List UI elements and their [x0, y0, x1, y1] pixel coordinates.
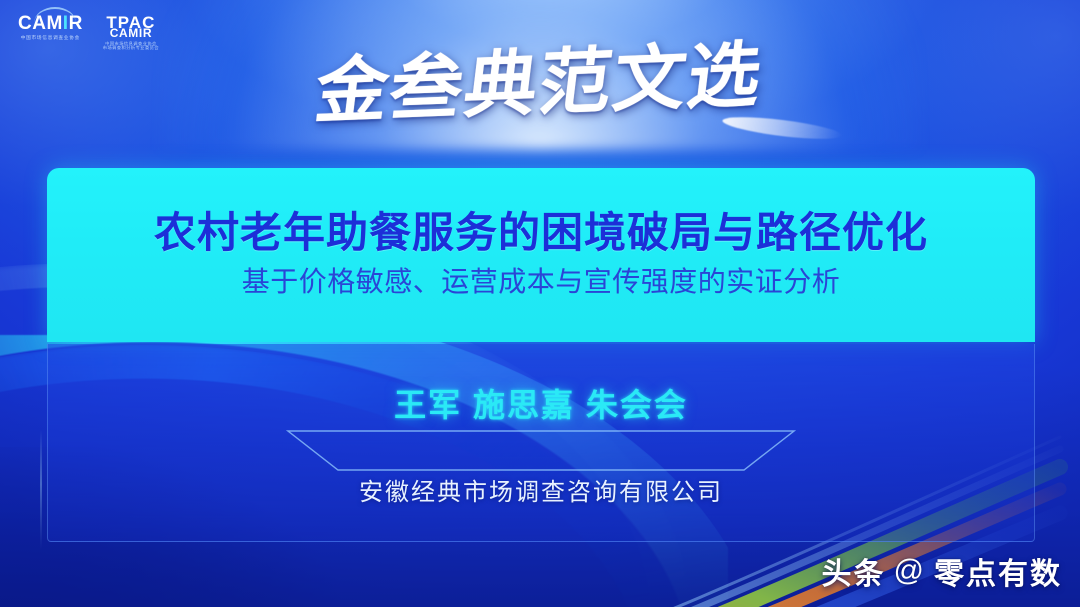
camir-logo: CAMIR 中国市场信息调查业协会: [18, 14, 83, 41]
brush-headline-text: 金叁典范文选: [311, 16, 770, 138]
author-panel: 王军 施思嘉 朱会会 安徽经典市场调查咨询有限公司: [47, 344, 1035, 542]
watermark: 头条 @ 零点有数: [822, 549, 1062, 593]
camir-wordmark: CAMIR: [18, 14, 83, 33]
page-title: 农村老年助餐服务的困境破局与路径优化: [154, 210, 928, 255]
tpac-logo-subtitle-2: 市场调查和分析专业委员会: [103, 46, 159, 50]
watermark-brand: 头条: [822, 549, 886, 593]
camir-logo-subtitle: 中国市场信息调查业协会: [21, 36, 80, 41]
title-banner: 农村老年助餐服务的困境破局与路径优化 基于价格敏感、运营成本与宣传强度的实证分析: [47, 168, 1035, 342]
camir-arc-icon: [34, 7, 76, 23]
brush-stroke-tail-decoration: [721, 113, 842, 144]
light-streak-decoration: [40, 430, 42, 550]
trapezoid-decoration: [286, 430, 796, 472]
watermark-at-icon: @: [894, 554, 926, 588]
association-logos: CAMIR 中国市场信息调查业协会 TPAC CAMIR 中国市场信息调查业协会…: [18, 14, 159, 50]
tpac-logo: TPAC CAMIR 中国市场信息调查业协会 市场调查和分析专业委员会: [103, 14, 159, 50]
presentation-slide: CAMIR 中国市场信息调查业协会 TPAC CAMIR 中国市场信息调查业协会…: [0, 0, 1080, 607]
author-names: 王军 施思嘉 朱会会: [394, 380, 688, 426]
top-glow-decoration: [160, 0, 920, 150]
page-subtitle: 基于价格敏感、运营成本与宣传强度的实证分析: [242, 267, 841, 298]
watermark-account: 零点有数: [934, 549, 1062, 593]
brush-headline: 金叁典范文选: [0, 24, 1080, 129]
tpac-camir-wordmark: CAMIR: [110, 27, 152, 39]
organization-name: 安徽经典市场调查咨询有限公司: [48, 472, 1034, 507]
